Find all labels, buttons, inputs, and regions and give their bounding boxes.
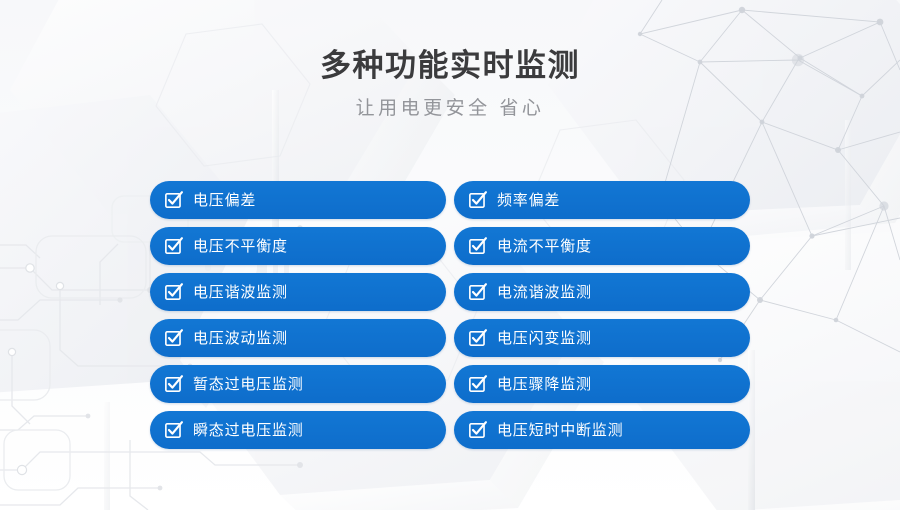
feature-label: 电压波动监测 xyxy=(193,331,288,346)
checkbox-checked-icon xyxy=(165,329,184,348)
slide-canvas: 多种功能实时监测 让用电更安全 省心 电压偏差 频率偏差 电压不平衡度 xyxy=(0,0,900,510)
checkbox-checked-icon xyxy=(469,421,488,440)
feature-item-10[interactable]: 电压骤降监测 xyxy=(454,365,750,403)
checkbox-checked-icon xyxy=(165,375,184,394)
feature-item-7[interactable]: 电压波动监测 xyxy=(150,319,446,357)
checkbox-checked-icon xyxy=(469,191,488,210)
checkbox-checked-icon xyxy=(469,329,488,348)
feature-label: 电压谐波监测 xyxy=(193,285,288,300)
header: 多种功能实时监测 让用电更安全 省心 xyxy=(0,0,900,120)
feature-item-2[interactable]: 频率偏差 xyxy=(454,181,750,219)
feature-item-12[interactable]: 电压短时中断监测 xyxy=(454,411,750,449)
feature-item-11[interactable]: 瞬态过电压监测 xyxy=(150,411,446,449)
feature-item-1[interactable]: 电压偏差 xyxy=(150,181,446,219)
checkbox-checked-icon xyxy=(469,375,488,394)
feature-label: 电压不平衡度 xyxy=(193,239,288,254)
checkbox-checked-icon xyxy=(165,421,184,440)
feature-label: 电压偏差 xyxy=(193,193,256,208)
checkbox-checked-icon xyxy=(165,237,184,256)
checkbox-checked-icon xyxy=(469,237,488,256)
checkbox-checked-icon xyxy=(469,283,488,302)
feature-label: 频率偏差 xyxy=(497,193,560,208)
feature-item-9[interactable]: 暂态过电压监测 xyxy=(150,365,446,403)
feature-item-6[interactable]: 电流谐波监测 xyxy=(454,273,750,311)
feature-label: 瞬态过电压监测 xyxy=(193,423,304,438)
feature-item-4[interactable]: 电流不平衡度 xyxy=(454,227,750,265)
feature-label: 电流不平衡度 xyxy=(497,239,592,254)
page-title: 多种功能实时监测 xyxy=(0,0,900,83)
feature-label: 电流谐波监测 xyxy=(497,285,592,300)
feature-label: 电压短时中断监测 xyxy=(497,423,623,438)
feature-item-5[interactable]: 电压谐波监测 xyxy=(150,273,446,311)
feature-label: 电压骤降监测 xyxy=(497,377,592,392)
page-subtitle: 让用电更安全 省心 xyxy=(0,83,900,120)
checkbox-checked-icon xyxy=(165,191,184,210)
feature-list: 电压偏差 频率偏差 电压不平衡度 电流不平衡度 xyxy=(150,181,750,449)
feature-label: 电压闪变监测 xyxy=(497,331,592,346)
feature-item-8[interactable]: 电压闪变监测 xyxy=(454,319,750,357)
feature-label: 暂态过电压监测 xyxy=(193,377,304,392)
feature-item-3[interactable]: 电压不平衡度 xyxy=(150,227,446,265)
checkbox-checked-icon xyxy=(165,283,184,302)
